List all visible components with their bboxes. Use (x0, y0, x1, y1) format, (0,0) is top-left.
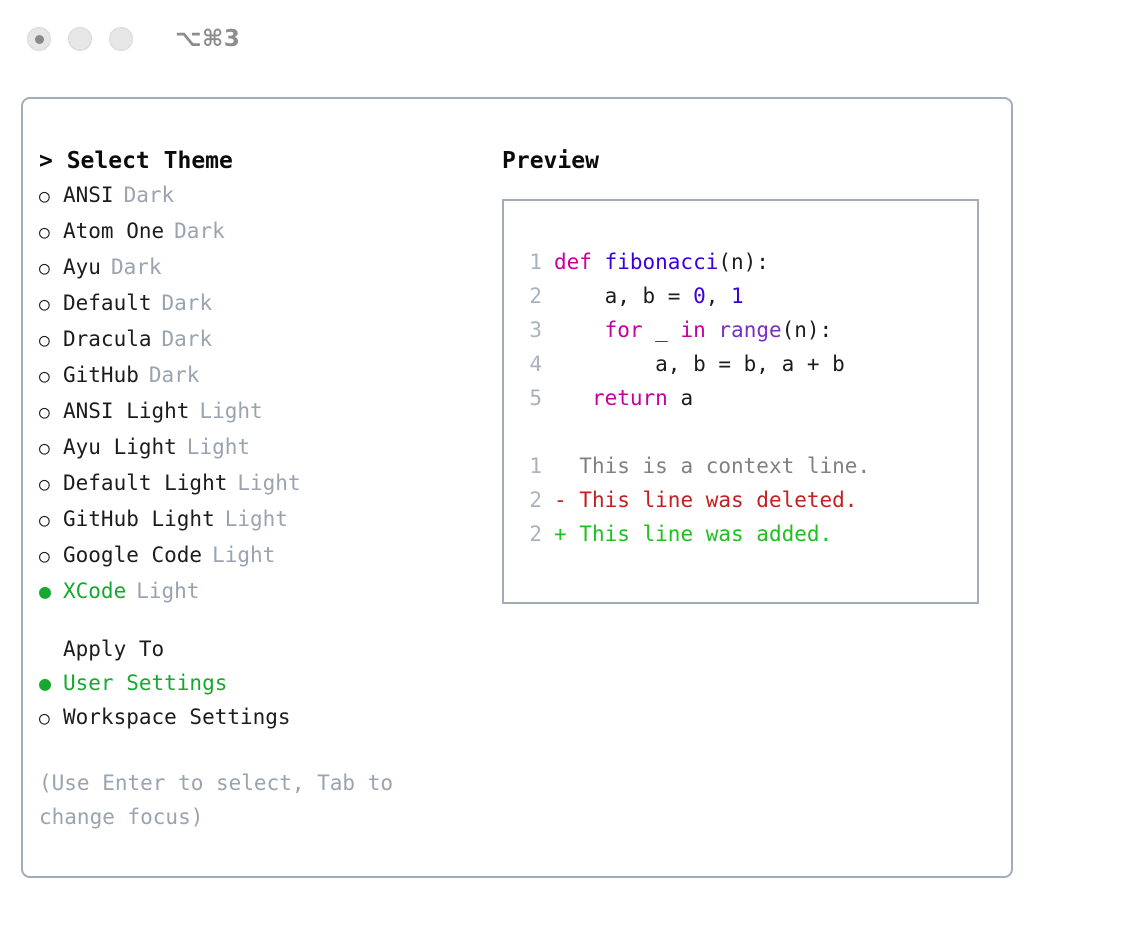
apply-to-option-list: ●User Settings○Workspace Settings (39, 666, 489, 736)
code-token-plain (554, 318, 605, 342)
code-token-fn: fibonacci (605, 250, 719, 274)
theme-option-dracula[interactable]: ○DraculaDark (39, 322, 489, 358)
select-theme-heading: > Select Theme (39, 144, 489, 178)
code-token-builtin: range (718, 318, 781, 342)
code-token-kw: for (605, 318, 643, 342)
record-dot-icon[interactable] (27, 27, 51, 51)
code-token-kw: in (680, 318, 705, 342)
window-controls (27, 27, 133, 51)
code-line: 3 for _ in range(n): (514, 313, 971, 347)
code-token-num: 0 (693, 284, 706, 308)
code-line: 4 a, b = b, a + b (514, 347, 971, 381)
theme-option-variant-tag: Dark (162, 322, 213, 356)
theme-option-ansi-light[interactable]: ○ANSI LightLight (39, 394, 489, 430)
diff-line-content: This line was added. (567, 517, 833, 551)
code-token-plain: (n): (782, 318, 833, 342)
theme-option-label: Default Light (63, 466, 227, 500)
radio-unselected-icon: ○ (39, 252, 63, 286)
spacer (514, 415, 971, 449)
radio-selected-icon: ● (39, 574, 63, 608)
theme-option-atom-one[interactable]: ○Atom OneDark (39, 214, 489, 250)
code-line-content: a, b = 0, 1 (554, 279, 744, 313)
diff-line-number: 2 (514, 483, 542, 517)
radio-unselected-icon: ○ (39, 288, 63, 322)
preview-heading: Preview (502, 144, 992, 178)
theme-option-label: Ayu (63, 250, 101, 284)
apply-to-option-user-settings[interactable]: ●User Settings (39, 666, 489, 700)
theme-option-label: ANSI (63, 178, 114, 212)
diff-line-number: 2 (514, 517, 542, 551)
code-token-plain: , (706, 284, 731, 308)
apply-to-option-label: Workspace Settings (63, 700, 291, 734)
diff-sample: 1 This is a context line.2- This line wa… (514, 449, 971, 551)
theme-option-variant-tag: Light (212, 538, 275, 572)
theme-option-label: Atom One (63, 214, 164, 248)
code-line-number: 3 (514, 313, 542, 347)
diff-line-del: 2- This line was deleted. (514, 483, 971, 517)
theme-option-variant-tag: Light (225, 502, 288, 536)
preview-column: Preview 1def fibonacci(n):2 a, b = 0, 13… (502, 144, 992, 604)
theme-option-ayu-light[interactable]: ○Ayu LightLight (39, 430, 489, 466)
radio-unselected-icon: ○ (39, 396, 63, 430)
code-token-plain: a, b = b, a + b (554, 352, 845, 376)
theme-option-label: GitHub (63, 358, 139, 392)
code-line-content: a, b = b, a + b (554, 347, 845, 381)
theme-option-github-light[interactable]: ○GitHub LightLight (39, 502, 489, 538)
theme-option-google-code[interactable]: ○Google CodeLight (39, 538, 489, 574)
theme-option-ayu[interactable]: ○AyuDark (39, 250, 489, 286)
main-panel: > Select Theme ○ANSIDark○Atom OneDark○Ay… (21, 97, 1013, 878)
apply-to-option-workspace-settings[interactable]: ○Workspace Settings (39, 700, 489, 736)
apply-to-heading: Apply To (39, 632, 489, 666)
radio-unselected-icon: ○ (39, 216, 63, 250)
theme-option-label: Default (63, 286, 152, 320)
theme-option-default-light[interactable]: ○Default LightLight (39, 466, 489, 502)
code-line: 1def fibonacci(n): (514, 245, 971, 279)
theme-option-variant-tag: Dark (111, 250, 162, 284)
code-token-plain: _ (643, 318, 681, 342)
theme-option-variant-tag: Light (187, 430, 250, 464)
code-sample: 1def fibonacci(n):2 a, b = 0, 13 for _ i… (514, 245, 971, 415)
radio-unselected-icon: ○ (39, 468, 63, 502)
keyboard-shortcut-label: ⌥⌘3 (175, 26, 240, 52)
diff-sign (554, 449, 567, 483)
diff-sign: + (554, 517, 567, 551)
diff-line-number: 1 (514, 449, 542, 483)
code-line-number: 4 (514, 347, 542, 381)
radio-unselected-icon: ○ (39, 180, 63, 214)
code-token-plain: a (668, 386, 693, 410)
code-token-plain (706, 318, 719, 342)
radio-selected-icon: ● (39, 666, 63, 700)
help-hint-text: (Use Enter to select, Tab to change focu… (39, 766, 449, 834)
radio-unselected-icon: ○ (39, 540, 63, 574)
theme-option-label: ANSI Light (63, 394, 189, 428)
radio-unselected-icon: ○ (39, 324, 63, 358)
radio-unselected-icon: ○ (39, 360, 63, 394)
preview-code-area: 1def fibonacci(n):2 a, b = 0, 13 for _ i… (514, 245, 971, 551)
apply-to-option-label: User Settings (63, 666, 227, 700)
radio-unselected-icon: ○ (39, 432, 63, 466)
theme-option-default[interactable]: ○DefaultDark (39, 286, 489, 322)
theme-option-variant-tag: Light (136, 574, 199, 608)
diff-line-ctx: 1 This is a context line. (514, 449, 971, 483)
theme-option-variant-tag: Dark (174, 214, 225, 248)
code-token-plain (554, 386, 592, 410)
diff-line-content: This is a context line. (567, 449, 870, 483)
diff-sign: - (554, 483, 567, 517)
theme-option-label: Google Code (63, 538, 202, 572)
spacer (39, 736, 489, 766)
code-line: 5 return a (514, 381, 971, 415)
diff-line-content: This line was deleted. (567, 483, 858, 517)
dot-2-icon[interactable] (68, 27, 92, 51)
radio-unselected-icon: ○ (39, 702, 63, 736)
code-line-content: for _ in range(n): (554, 313, 832, 347)
theme-option-label: GitHub Light (63, 502, 215, 536)
record-dot-inner (35, 35, 44, 44)
theme-option-list: ○ANSIDark○Atom OneDark○AyuDark○DefaultDa… (39, 178, 489, 608)
code-line-number: 1 (514, 245, 542, 279)
theme-option-label: XCode (63, 574, 126, 608)
theme-selector-column: > Select Theme ○ANSIDark○Atom OneDark○Ay… (39, 144, 489, 834)
theme-option-variant-tag: Light (199, 394, 262, 428)
code-token-plain: (n): (718, 250, 769, 274)
theme-option-label: Ayu Light (63, 430, 177, 464)
code-line-number: 2 (514, 279, 542, 313)
code-token-kw: def (554, 250, 605, 274)
code-line-number: 5 (514, 381, 542, 415)
theme-option-xcode[interactable]: ●XCodeLight (39, 574, 489, 608)
code-line: 2 a, b = 0, 1 (514, 279, 971, 313)
theme-option-variant-tag: Light (237, 466, 300, 500)
theme-option-github[interactable]: ○GitHubDark (39, 358, 489, 394)
theme-option-variant-tag: Dark (124, 178, 175, 212)
diff-line-add: 2+ This line was added. (514, 517, 971, 551)
window-titlebar: ⌥⌘3 (0, 0, 1140, 78)
code-line-content: def fibonacci(n): (554, 245, 769, 279)
code-token-kw: return (592, 386, 668, 410)
theme-option-variant-tag: Dark (149, 358, 200, 392)
spacer (39, 608, 489, 632)
panel-columns: > Select Theme ○ANSIDark○Atom OneDark○Ay… (23, 99, 1011, 876)
theme-option-ansi[interactable]: ○ANSIDark (39, 178, 489, 214)
preview-box: 1def fibonacci(n):2 a, b = 0, 13 for _ i… (502, 199, 979, 604)
dot-3-icon[interactable] (109, 27, 133, 51)
radio-unselected-icon: ○ (39, 504, 63, 538)
code-token-num: 1 (731, 284, 744, 308)
code-line-content: return a (554, 381, 693, 415)
theme-option-label: Dracula (63, 322, 152, 356)
theme-option-variant-tag: Dark (162, 286, 213, 320)
code-token-plain: a, b = (554, 284, 693, 308)
